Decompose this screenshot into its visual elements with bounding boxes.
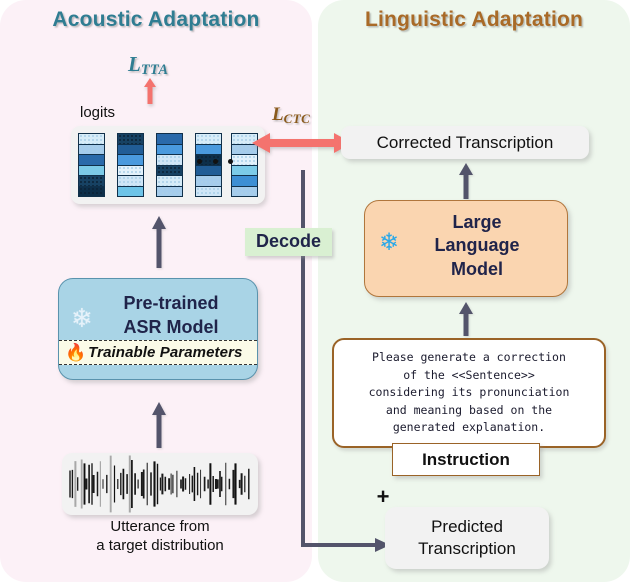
utterance-caption-line1: Utterance from [110,518,209,535]
arrow-utterance-to-asr [151,402,167,448]
logits-cell [196,187,221,197]
logits-matrix [71,126,265,204]
logits-cell [196,134,221,145]
logits-cell [79,166,104,177]
logits-caption: logits [80,104,115,121]
predicted-line1: Predicted [431,517,503,536]
loss-ctc-subscript: CTC [284,111,311,126]
corrected-transcription-label: Corrected Transcription [377,133,554,153]
logits-cell [232,187,257,197]
panel-title-linguistic: Linguistic Adaptation [318,8,630,32]
asr-title-line2: ASR Model [123,317,218,337]
logits-cell [157,187,182,197]
logits-cell [118,187,143,197]
logits-cell [118,134,143,145]
logits-cell [118,166,143,177]
loss-label-tta: LTTA [128,52,168,79]
arrow-bidirectional-ctc-loss [252,132,352,154]
logits-cell [157,155,182,166]
instruction-chip: Instruction [392,443,540,476]
logits-cell [79,134,104,145]
diagram-root: Acoustic Adaptation Linguistic Adaptatio… [0,0,630,582]
llm-title-line3: Model [451,259,503,279]
logits-cell [79,145,104,156]
llm-title-line1: Large [452,212,501,232]
logits-column [195,133,222,197]
panel-title-acoustic: Acoustic Adaptation [0,8,312,32]
loss-tta-subscript: TTA [141,62,169,78]
fire-icon: 🔥 [65,344,86,361]
decode-label-chip: Decode [245,228,332,256]
instruction-prompt-text: Please generate a correction of the <<Se… [369,349,570,436]
utterance-caption-line2: a target distribution [96,537,224,554]
logits-cell [79,187,104,197]
arrow-up-to-tta-loss [144,78,156,104]
logits-cell [118,176,143,187]
logits-cell [196,166,221,177]
logits-cell [232,176,257,187]
waveform-icon [62,453,258,515]
corrected-transcription-box: Corrected Transcription [341,126,589,159]
logits-column [117,133,144,197]
predicted-line2: Transcription [418,539,516,558]
logits-cell [157,134,182,145]
arrow-instruction-to-llm [458,302,474,336]
logits-column [78,133,105,197]
large-language-model-box: ❄ Large Language Model [364,200,568,297]
utterance-caption: Utterance from a target distribution [50,518,270,556]
logits-cell [232,155,257,166]
pretrained-asr-model-box: ❄ Pre-trained ASR Model 🔥 Trainable Para… [58,278,258,380]
arrow-llm-to-corrected [458,163,474,199]
utterance-waveform-box [62,453,258,515]
logits-cell [157,166,182,177]
instruction-chip-label: Instruction [422,450,510,470]
instruction-prompt-box: Please generate a correction of the <<Se… [332,338,606,448]
loss-tta-symbol: L [128,52,141,76]
llm-title: Large Language Model [365,211,567,281]
asr-title-line1: Pre-trained [123,293,218,313]
logits-cell [196,145,221,156]
loss-label-ctc: LCTC [272,104,310,127]
logits-cell [196,176,221,187]
logits-cell [157,176,182,187]
loss-ctc-symbol: L [272,104,284,125]
logits-column [156,133,183,197]
logits-cell [79,155,104,166]
logits-cell [232,166,257,177]
logits-cell [118,145,143,156]
trainable-parameters-bar: 🔥 Trainable Parameters [59,340,257,365]
predicted-transcription-label: Predicted Transcription [418,516,516,560]
logits-cell [79,176,104,187]
llm-title-line2: Language [434,235,519,255]
logits-cell [118,155,143,166]
asr-model-title: Pre-trained ASR Model [59,291,257,340]
logits-ellipsis-dots [197,159,233,164]
arrow-asr-to-logits [151,216,167,268]
predicted-transcription-box: Predicted Transcription [385,507,549,569]
plus-sign: + [377,484,390,510]
logits-cell [157,145,182,156]
trainable-parameters-label: Trainable Parameters [88,344,242,361]
